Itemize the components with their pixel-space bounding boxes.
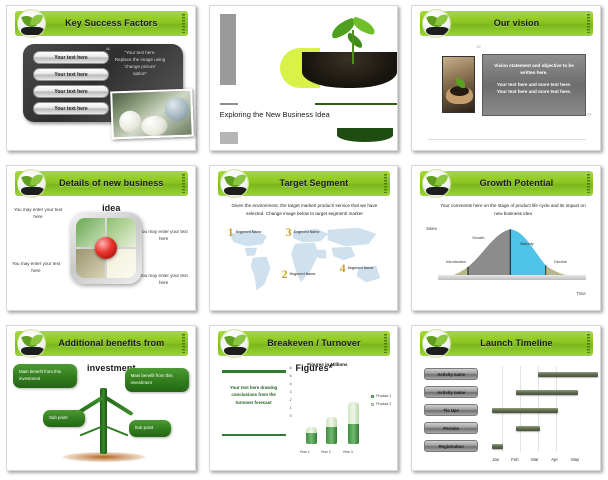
- x-tick-year-3: Year 3: [343, 450, 353, 454]
- y-axis-label: Sales: [426, 226, 437, 231]
- slide-page: Our vision “ Vision statement and object…: [411, 5, 601, 151]
- sprout-logo-icon: [17, 9, 46, 38]
- timeline-bar-5[interactable]: [492, 444, 503, 449]
- legend-item-product-2[interactable]: Product 2: [371, 402, 391, 406]
- slide-page: Growth Potential Your comments here on t…: [411, 165, 601, 311]
- key-factor-button-1[interactable]: Your text here: [33, 51, 109, 64]
- slide-title: Key Success Factors: [49, 11, 174, 36]
- slide-page: Breakeven / Turnover Figures* Your text …: [209, 325, 399, 471]
- segment-label: Segment Name: [348, 266, 374, 270]
- slide-page: Additional benefits from investment Main…: [6, 325, 196, 471]
- key-factor-button-4[interactable]: Your text here: [33, 102, 109, 115]
- slide-page: Exploring the New Business Idea: [209, 5, 399, 151]
- growth-potential-description: Your comments here on the stage of produ…: [438, 202, 588, 218]
- detail-callout-top-right: You may enter your text here: [137, 228, 191, 243]
- y-tick-4: 4: [290, 382, 292, 386]
- x-tick-year-1: Year 1: [300, 450, 310, 454]
- benefit-bubble-sub-right[interactable]: Sub point: [129, 420, 171, 437]
- timeline-bar-3[interactable]: [492, 408, 558, 413]
- slide-header: Our vision: [420, 11, 593, 36]
- slide-additional-benefits-from-investment[interactable]: Additional benefits from investment Main…: [0, 320, 203, 480]
- quote-open-icon: “: [476, 44, 481, 55]
- segment-marker-2[interactable]: 2 Segment Name: [282, 268, 316, 280]
- x-axis-label: Time: [576, 291, 585, 296]
- timeline-label-3[interactable]: Tie Ups: [424, 404, 478, 416]
- segment-label: Segment Name: [294, 230, 320, 234]
- legend-swatch: [371, 403, 374, 406]
- tree-twig-right: [105, 426, 128, 437]
- vision-line-1: Vision statement and objective to be wri…: [489, 62, 579, 77]
- footer-rule: [428, 139, 586, 140]
- slide-header: Additional benefits from investment: [15, 331, 188, 356]
- key-factor-button-3[interactable]: Your text here: [33, 85, 109, 98]
- slide-breakeven-turnover-figures[interactable]: Breakeven / Turnover Figures* Your text …: [203, 320, 406, 480]
- timeline-label-5[interactable]: Registration: [424, 440, 478, 452]
- benefit-bubble-main-right[interactable]: Main benefit from this investment: [125, 368, 189, 392]
- header-dots-icon: [384, 174, 387, 193]
- title-rule-short: [220, 103, 238, 105]
- slide-our-vision[interactable]: Our vision “ Vision statement and object…: [405, 0, 608, 160]
- benefit-bubble-main-left[interactable]: Main benefit from this investment: [13, 364, 77, 388]
- conclusion-text: Your text here drawing conclusions from …: [224, 384, 284, 406]
- y-tick-3: 3: [290, 390, 292, 394]
- detail-callout-top-left: You may enter your text here: [11, 206, 65, 221]
- detail-callout-bottom-right: You may enter your text here: [137, 272, 191, 287]
- tree-branch-right: [104, 396, 133, 416]
- timeline-month-may: May: [571, 457, 579, 462]
- segment-label: Segment Name: [290, 272, 316, 276]
- stage-label-maturity: Maturity: [520, 242, 534, 246]
- slide-title: Additional benefits from investment: [49, 331, 174, 356]
- chart-title: Figures in Millions: [290, 362, 366, 367]
- sprout-logo-icon: [17, 169, 46, 198]
- timeline-month-mar: Mar: [531, 457, 538, 462]
- sprout-logo-icon: [422, 9, 451, 38]
- header-dots-icon: [182, 334, 185, 353]
- timeline-bar-2[interactable]: [516, 390, 578, 395]
- header-dots-icon: [587, 334, 590, 353]
- bar-segment-product-2: [326, 417, 337, 427]
- slide-header: Breakeven / Turnover Figures*: [218, 331, 391, 356]
- segment-number: 4: [340, 262, 346, 274]
- bar-segment-product-2: [348, 402, 359, 424]
- header-dots-icon: [384, 334, 387, 353]
- key-factors-quote: "Your text here. Replace the image using…: [107, 50, 173, 78]
- presentation-title: Exploring the New Business Idea: [220, 110, 330, 119]
- bar-year-1[interactable]: [306, 427, 317, 444]
- slide-header: Key Success Factors: [15, 11, 188, 36]
- slide-page: Key Success Factors Your text here Your …: [6, 5, 196, 151]
- segment-number: 2: [282, 268, 288, 280]
- slide-title: Growth Potential: [454, 171, 579, 196]
- legend-label: Product 2: [376, 402, 391, 406]
- bar-segment-product-1: [348, 424, 359, 444]
- slide-target-segment[interactable]: Target Segment Given the environment, th…: [203, 160, 406, 320]
- world-map[interactable]: 1 Segment Name 3 Segment Name 2 Segment …: [224, 224, 388, 296]
- slide-title: Target Segment: [252, 171, 377, 196]
- header-dots-icon: [182, 174, 185, 193]
- sprout-logo-icon: [17, 329, 46, 358]
- slide-header: Target Segment: [218, 171, 391, 196]
- quote-line-4: option": [107, 71, 173, 78]
- vision-line-2: Your text here and more text here.: [489, 81, 579, 88]
- y-tick-0: 0: [290, 414, 292, 418]
- slide-page: Launch Timeline Activity name Activity n…: [411, 325, 601, 471]
- sprout-logo-icon: [220, 329, 249, 358]
- slide-details-of-new-business-idea[interactable]: Details of new business idea You may ent…: [0, 160, 203, 320]
- header-dots-icon: [587, 174, 590, 193]
- slide-title-exploring-new-business-idea[interactable]: Exploring the New Business Idea: [203, 0, 406, 160]
- timeline-label-1[interactable]: Activity name: [424, 368, 478, 380]
- sprout-logo-icon: [422, 329, 451, 358]
- quote-close-icon: ”: [587, 112, 592, 123]
- quote-line-2: Replace the image using: [107, 57, 173, 64]
- y-tick-6: 6: [290, 366, 292, 370]
- quadrant-diagram[interactable]: [70, 212, 142, 284]
- timeline-month-apr: Apr: [551, 457, 558, 462]
- chart-baseline: [438, 275, 586, 280]
- stage-label-introduction: Introduction: [446, 260, 466, 264]
- decorative-arc: [337, 128, 393, 142]
- detail-callout-bottom-left: You may enter your text here: [9, 260, 63, 275]
- slide-header: Growth Potential: [420, 171, 593, 196]
- segment-marker-4[interactable]: 4 Segment Name: [340, 262, 374, 274]
- y-tick-1: 1: [290, 406, 292, 410]
- quote-line-1: "Your text here.: [107, 50, 173, 57]
- timeline-bar-1[interactable]: [538, 372, 598, 377]
- timeline-month-jan: Jan: [492, 457, 499, 462]
- y-tick-2: 2: [290, 398, 292, 402]
- decorative-gray-block: [220, 132, 238, 144]
- slide-page: Details of new business idea You may ent…: [6, 165, 196, 311]
- segment-label: Segment Name: [236, 230, 262, 234]
- key-factor-button-2[interactable]: Your text here: [33, 68, 109, 81]
- slide-header: Launch Timeline: [420, 331, 593, 356]
- slide-title: Details of new business idea: [49, 171, 174, 196]
- segment-number: 3: [286, 226, 292, 238]
- vision-statement-box: Vision statement and objective to be wri…: [482, 54, 586, 116]
- legend-item-product-1[interactable]: Product 1: [371, 394, 391, 398]
- segment-number: 1: [228, 226, 234, 238]
- hand-holding-seedling-photo[interactable]: [442, 56, 475, 113]
- title-rule-long: [315, 103, 398, 105]
- bar-year-2[interactable]: [326, 417, 337, 444]
- bar-year-3[interactable]: [348, 402, 359, 444]
- x-tick-year-2: Year 2: [321, 450, 331, 454]
- header-dots-icon: [587, 14, 590, 33]
- bar-segment-product-1: [306, 433, 317, 444]
- timeline-month-feb: Feb: [511, 457, 518, 462]
- y-tick-5: 5: [290, 374, 292, 378]
- slide-title: Launch Timeline: [454, 331, 579, 356]
- quote-line-3: 'change picture': [107, 64, 173, 71]
- bar-segment-product-1: [326, 427, 337, 444]
- vision-line-3: Your text here and more text here.: [489, 88, 579, 95]
- decorative-gray-bar: [220, 14, 236, 85]
- slide-key-success-factors[interactable]: Key Success Factors Your text here Your …: [0, 0, 203, 160]
- target-segment-description: Given the environment, the target market…: [224, 202, 386, 218]
- slide-title: Our vision: [454, 11, 579, 36]
- timeline-label-2[interactable]: Activity name: [424, 386, 478, 398]
- legend-swatch: [371, 395, 374, 398]
- segment-marker-1[interactable]: 1 Segment Name: [228, 226, 262, 238]
- timeline-bar-4[interactable]: [516, 426, 540, 431]
- segment-marker-3[interactable]: 3 Segment Name: [286, 226, 320, 238]
- seedling-photo[interactable]: [280, 14, 398, 90]
- slide-title: Breakeven / Turnover Figures*: [252, 331, 377, 356]
- timeline-label-4[interactable]: Permits: [424, 422, 478, 434]
- product-life-cycle-chart[interactable]: Sales Time Introduction Growth Maturity …: [424, 220, 592, 298]
- center-sphere-icon: [95, 237, 117, 259]
- slide-deck: Key Success Factors Your text here Your …: [0, 0, 608, 480]
- stage-label-growth: Growth: [472, 236, 484, 240]
- sprout-logo-icon: [422, 169, 451, 198]
- turnover-bar-chart[interactable]: Figures in Millions 0 1 2 3 4 5 6: [290, 362, 392, 460]
- slide-page: Target Segment Given the environment, th…: [209, 165, 399, 311]
- flower-photo[interactable]: [110, 89, 194, 140]
- conclusion-text-box[interactable]: Your text here drawing conclusions from …: [222, 370, 286, 436]
- slide-launch-timeline[interactable]: Launch Timeline Activity name Activity n…: [405, 320, 608, 480]
- slide-header: Details of new business idea: [15, 171, 188, 196]
- header-dots-icon: [182, 14, 185, 33]
- sprout-logo-icon: [220, 169, 249, 198]
- stage-label-decline: Decline: [554, 260, 567, 264]
- benefit-bubble-sub-left[interactable]: Sub point: [43, 410, 85, 427]
- legend-label: Product 1: [376, 394, 391, 398]
- slide-growth-potential[interactable]: Growth Potential Your comments here on t…: [405, 160, 608, 320]
